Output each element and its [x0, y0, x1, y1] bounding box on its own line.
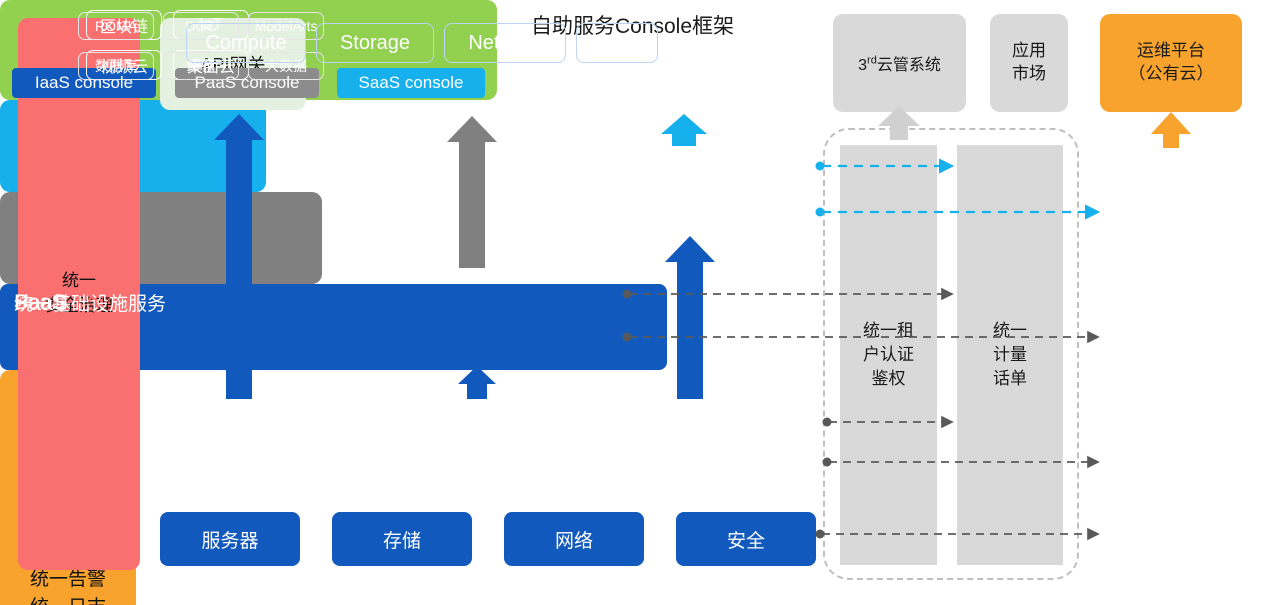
- third-party-cloud-mgmt-box[interactable]: 3rd云管系统: [833, 14, 966, 112]
- infra-service-network[interactable]: Network: [444, 23, 566, 63]
- unified-metering-label: 统一 计量 话单: [993, 319, 1027, 390]
- unified-infrastructure-label: 统一基础设施服务: [14, 0, 166, 605]
- arrow-infra-to-paas: [458, 366, 496, 399]
- infra-service-storage[interactable]: Storage: [316, 23, 434, 63]
- infra-service-compute[interactable]: Compute: [186, 23, 306, 63]
- infra-service-cce[interactable]: CCE: [576, 23, 658, 63]
- hardware-box-storage[interactable]: 存储: [332, 512, 472, 566]
- app-market-box[interactable]: 应用 市场: [990, 14, 1068, 112]
- arrow-paas-to-console: [447, 116, 497, 268]
- unified-tenant-auth-column[interactable]: 统一租 户认证 鉴权: [840, 145, 937, 565]
- unified-tenant-auth-label: 统一租 户认证 鉴权: [863, 319, 914, 390]
- unified-infrastructure-bar[interactable]: 统一基础设施服务 Compute Storage Network CCE: [0, 284, 667, 370]
- hardware-box-security[interactable]: 安全: [676, 512, 816, 566]
- arrow-saas-to-saas-console: [661, 114, 707, 146]
- third-party-cloud-mgmt-label: 3rd云管系统: [858, 51, 941, 75]
- architecture-diagram: 统一 安全治理 API网关 自助服务Console框架 IaaS console…: [0, 0, 1265, 605]
- ops-platform-public-cloud-box[interactable]: 运维平台 （公有云）: [1100, 14, 1242, 112]
- arrow-infra-to-saas: [665, 236, 715, 399]
- app-market-label: 应用 市场: [1012, 40, 1046, 86]
- arrow-ops-panel-to-ops-top: [1151, 112, 1191, 148]
- saas-console-chip[interactable]: SaaS console: [337, 68, 485, 98]
- ops-platform-public-cloud-label: 运维平台 （公有云）: [1129, 40, 1214, 86]
- hardware-box-network[interactable]: 网络: [504, 512, 644, 566]
- unified-metering-column[interactable]: 统一 计量 话单: [957, 145, 1063, 565]
- hardware-box-server[interactable]: 服务器: [160, 512, 300, 566]
